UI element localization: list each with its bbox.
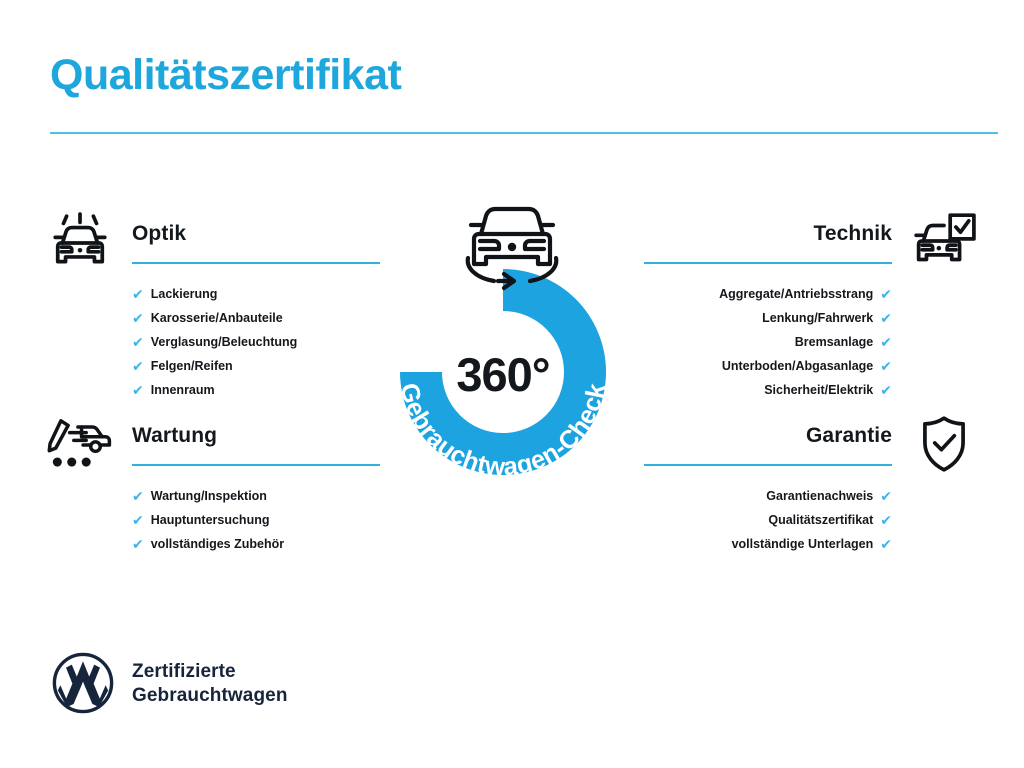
list-item-label: Verglasung/Beleuchtung bbox=[151, 336, 298, 349]
check-icon: ✔ bbox=[880, 359, 892, 373]
section-garantie-divider bbox=[644, 464, 892, 466]
list-item: Qualitätszertifikat✔ bbox=[732, 508, 892, 532]
check-icon: ✔ bbox=[132, 537, 144, 551]
section-wartung-divider bbox=[132, 464, 380, 466]
section-technik-header: Technik bbox=[620, 210, 980, 254]
section-optik-title: Optik bbox=[132, 223, 186, 244]
list-item: Aggregate/Antriebsstrang✔ bbox=[719, 282, 892, 306]
vw-wordmark-line2: Gebrauchtwagen bbox=[132, 684, 288, 708]
check-icon: ✔ bbox=[880, 537, 892, 551]
list-item-label: Hauptuntersuchung bbox=[151, 514, 270, 527]
section-wartung: Wartung ✔Wartung/Inspektion ✔Hauptunters… bbox=[44, 412, 404, 456]
list-item-label: Lackierung bbox=[151, 288, 218, 301]
list-item-label: vollständige Unterlagen bbox=[732, 538, 874, 551]
check-icon: ✔ bbox=[880, 489, 892, 503]
car-checkbox-icon bbox=[908, 212, 980, 272]
list-item: ✔vollständiges Zubehör bbox=[132, 532, 284, 556]
section-garantie-list: Garantienachweis✔ Qualitätszertifikat✔ v… bbox=[732, 484, 892, 556]
car-shine-icon bbox=[44, 212, 116, 272]
page-title: Qualitätszertifikat bbox=[50, 52, 401, 99]
list-item-label: Innenraum bbox=[151, 384, 215, 397]
certificate-page: Qualitätszertifikat bbox=[0, 0, 1024, 768]
check-icon: ✔ bbox=[880, 311, 892, 325]
section-garantie-header: Garantie bbox=[620, 412, 980, 456]
vw-wordmark: Zertifizierte Gebrauchtwagen bbox=[132, 660, 288, 709]
list-item: Sicherheit/Elektrik✔ bbox=[719, 378, 892, 402]
section-technik-divider bbox=[644, 262, 892, 264]
section-garantie: Garantie Garantienachweis✔ Qualitätszert… bbox=[620, 412, 980, 456]
list-item-label: Sicherheit/Elektrik bbox=[764, 384, 873, 397]
section-wartung-header: Wartung bbox=[44, 412, 404, 456]
car-rotate-360-icon bbox=[454, 196, 570, 302]
section-technik-list: Aggregate/Antriebsstrang✔ Lenkung/Fahrwe… bbox=[719, 282, 892, 402]
list-item: Unterboden/Abgasanlage✔ bbox=[719, 354, 892, 378]
section-garantie-title: Garantie bbox=[806, 425, 892, 446]
list-item: ✔Innenraum bbox=[132, 378, 297, 402]
list-item: Lenkung/Fahrwerk✔ bbox=[719, 306, 892, 330]
list-item: ✔Wartung/Inspektion bbox=[132, 484, 284, 508]
badge-center-label: 360° bbox=[378, 351, 628, 398]
volkswagen-logo-icon bbox=[52, 652, 114, 714]
check-icon: ✔ bbox=[880, 287, 892, 301]
section-optik-list: ✔Lackierung ✔Karosserie/Anbauteile ✔Verg… bbox=[132, 282, 297, 402]
list-item-label: Karosserie/Anbauteile bbox=[151, 312, 283, 325]
vw-certified-logo: Zertifizierte Gebrauchtwagen bbox=[52, 652, 392, 716]
check-icon: ✔ bbox=[132, 335, 144, 349]
section-wartung-list: ✔Wartung/Inspektion ✔Hauptuntersuchung ✔… bbox=[132, 484, 284, 556]
check-icon: ✔ bbox=[132, 489, 144, 503]
list-item: ✔Karosserie/Anbauteile bbox=[132, 306, 297, 330]
list-item: ✔Verglasung/Beleuchtung bbox=[132, 330, 297, 354]
list-item: Garantienachweis✔ bbox=[732, 484, 892, 508]
list-item: Bremsanlage✔ bbox=[719, 330, 892, 354]
list-item-label: Aggregate/Antriebsstrang bbox=[719, 288, 873, 301]
title-divider bbox=[50, 132, 998, 134]
pen-car-service-icon bbox=[44, 414, 116, 474]
check-icon: ✔ bbox=[880, 335, 892, 349]
check-icon: ✔ bbox=[132, 513, 144, 527]
list-item: ✔Felgen/Reifen bbox=[132, 354, 297, 378]
list-item-label: Unterboden/Abgasanlage bbox=[722, 360, 873, 373]
list-item-label: Qualitätszertifikat bbox=[768, 514, 873, 527]
list-item: ✔Lackierung bbox=[132, 282, 297, 306]
section-technik-title: Technik bbox=[814, 223, 893, 244]
list-item-label: Felgen/Reifen bbox=[151, 360, 233, 373]
list-item: ✔Hauptuntersuchung bbox=[132, 508, 284, 532]
list-item-label: Lenkung/Fahrwerk bbox=[762, 312, 873, 325]
check-icon: ✔ bbox=[132, 383, 144, 397]
list-item: vollständige Unterlagen✔ bbox=[732, 532, 892, 556]
section-technik: Technik Aggregate/Antriebsstrang✔ Lenkun… bbox=[620, 210, 980, 254]
section-wartung-title: Wartung bbox=[132, 425, 217, 446]
360-check-badge: Gebrauchtwagen-Check 360° bbox=[378, 196, 646, 486]
shield-check-icon bbox=[908, 414, 980, 474]
list-item-label: vollständiges Zubehör bbox=[151, 538, 284, 551]
section-optik-header: Optik bbox=[44, 210, 404, 254]
list-item-label: Garantienachweis bbox=[766, 490, 873, 503]
check-icon: ✔ bbox=[132, 287, 144, 301]
section-optik-divider bbox=[132, 262, 380, 264]
vw-wordmark-line1: Zertifizierte bbox=[132, 660, 288, 684]
list-item-label: Bremsanlage bbox=[795, 336, 874, 349]
section-optik: Optik ✔Lackierung ✔Karosserie/Anbauteile… bbox=[44, 210, 404, 254]
list-item-label: Wartung/Inspektion bbox=[151, 490, 267, 503]
check-icon: ✔ bbox=[132, 359, 144, 373]
check-icon: ✔ bbox=[880, 513, 892, 527]
check-icon: ✔ bbox=[132, 311, 144, 325]
check-icon: ✔ bbox=[880, 383, 892, 397]
